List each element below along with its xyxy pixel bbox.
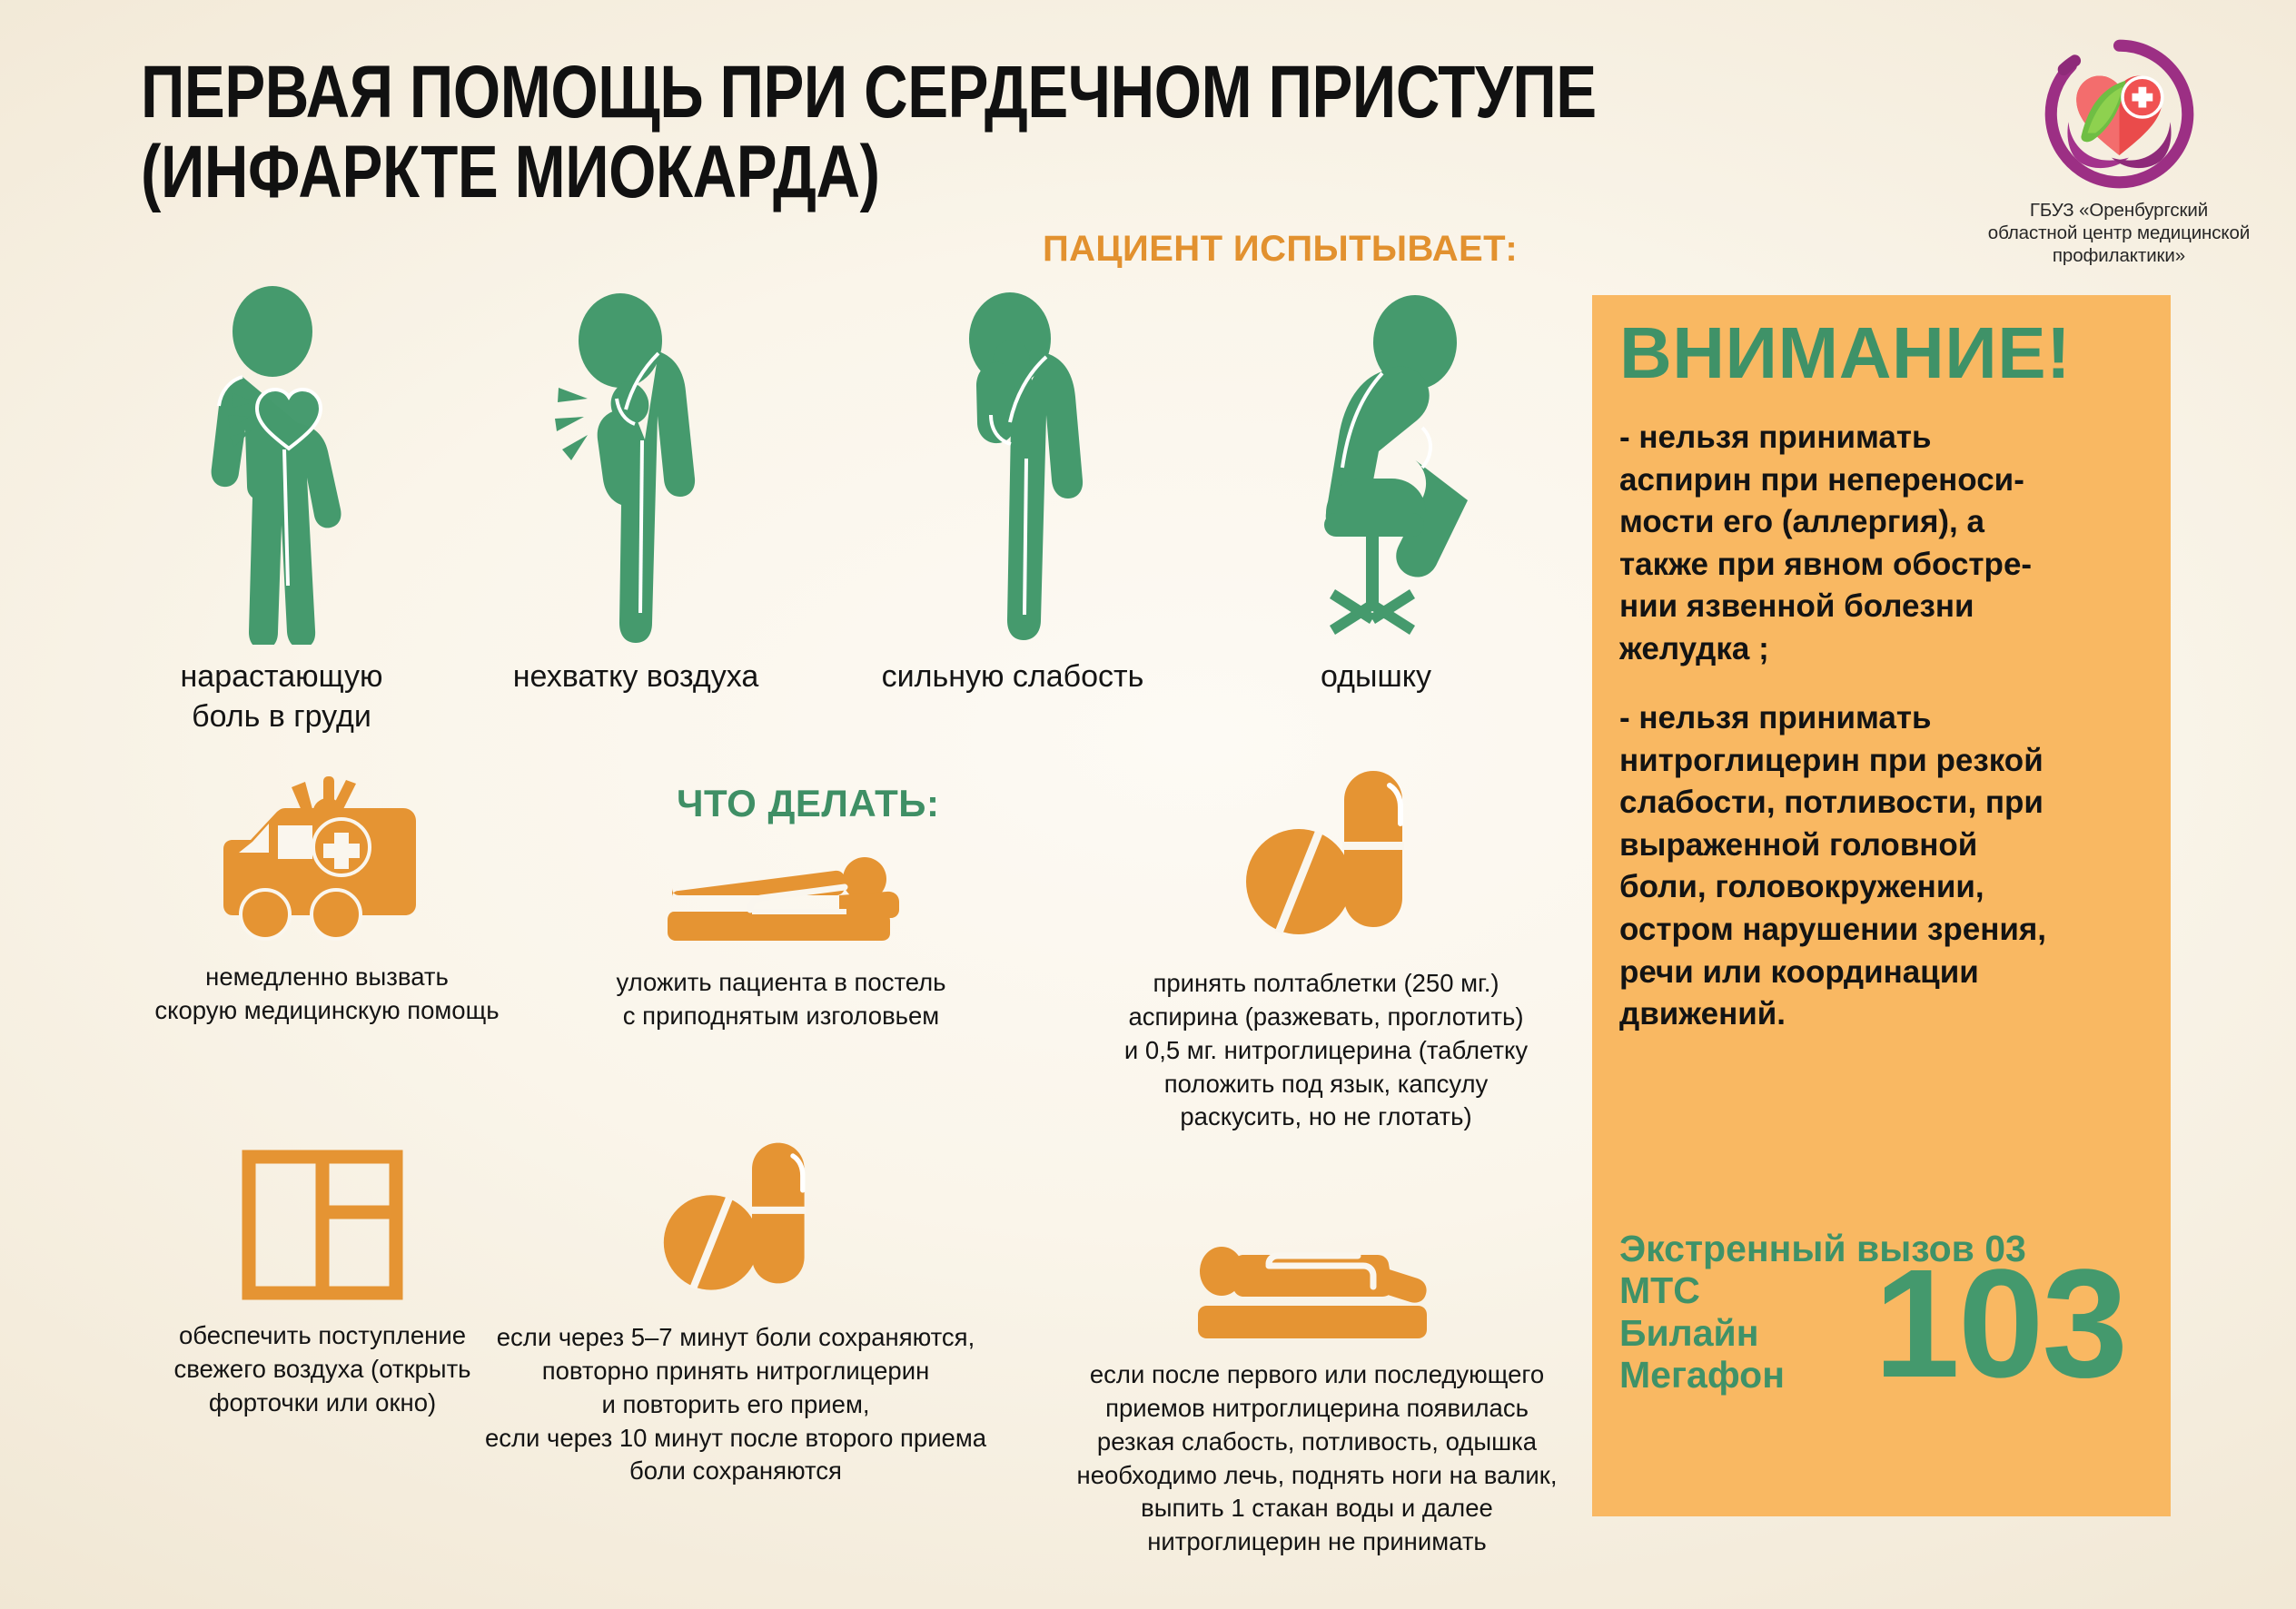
symptom-label: нехватку воздуха [454,657,817,697]
action-label: принять полтаблетки (250 мг.) аспирина (… [1054,967,1598,1134]
attention-paragraph-aspirin: - нельзя принимать аспирин при неперенос… [1619,417,2147,670]
ambulance-icon [191,776,463,944]
action-art [454,1140,1017,1303]
patient-in-bed-icon [661,855,902,944]
emergency-number: 103 [1874,1253,2126,1395]
symptom-art [817,281,1208,645]
action-label: уложить пациента в постель с приподнятым… [527,966,1035,1033]
poster-root: ПЕРВАЯ ПОМОЩЬ ПРИ СЕРДЕЧНОМ ПРИСТУПЕ (ИН… [0,0,2296,1609]
page-title: ПЕРВАЯ ПОМОЩЬ ПРИ СЕРДЕЧНОМ ПРИСТУПЕ (ИН… [141,53,1630,212]
action-item-lie-down: если после первого или последующего прие… [1026,1244,1608,1559]
action-art [73,776,581,944]
symptom-art [454,281,817,645]
symptoms-heading: ПАЦИЕНТ ИСПЫТЫВАЕТ: [1043,229,1518,270]
symptom-label: нарастающую боль в груди [100,657,463,736]
person-lying-icon [1198,1244,1436,1342]
action-art [1054,767,1598,949]
person-sitting-dyspnea-icon [1262,286,1489,645]
action-item-bed: уложить пациента в постель с приподнятым… [527,854,1035,1033]
symptom-art [100,281,463,645]
attention-title: ВНИМАНИЕ! [1619,317,2147,390]
symptoms-row: нарастающую боль в груди [100,281,1571,735]
symptom-item: нарастающую боль в груди [100,281,463,736]
person-short-of-breath-icon [522,286,749,645]
page-title-line-1: ПЕРВАЯ ПОМОЩЬ ПРИ СЕРДЕЧНОМ ПРИСТУПЕ [141,53,1630,133]
symptom-label: сильную слабость [817,657,1208,697]
window-icon [241,1149,404,1301]
symptom-art [1194,281,1558,645]
person-chest-pain-icon [177,286,386,645]
page-title-line-2: (ИНФАРКТЕ МИОКАРДА) [141,133,1630,212]
logo-heart-leaf-icon [2040,35,2199,193]
action-label: немедленно вызвать скорую медицинскую по… [73,961,581,1028]
attention-panel: ВНИМАНИЕ! - нельзя принимать аспирин при… [1592,295,2171,1516]
emergency-call-block: Экстренный вызов 03 МТС Билайн Мегафон 1… [1619,1228,2146,1436]
actions-heading: ЧТО ДЕЛАТЬ: [677,782,939,825]
pills-icon [1235,767,1417,949]
person-weakness-icon [908,286,1117,645]
action-item-ambulance: немедленно вызвать скорую медицинскую по… [73,776,581,1028]
symptom-label: одышку [1194,657,1558,697]
organization-logo: ГБУЗ «Оренбургский областной центр медиц… [1983,35,2255,267]
action-art [527,854,1035,944]
action-item-pills-first: принять полтаблетки (250 мг.) аспирина (… [1054,767,1598,1134]
attention-paragraph-nitroglycerin: - нельзя принимать нитроглицерин при рез… [1619,697,2147,1035]
symptom-item: нехватку воздуха [454,281,817,697]
logo-caption: ГБУЗ «Оренбургский областной центр медиц… [1983,199,2255,267]
action-label: если через 5–7 минут боли сохраняются, п… [454,1321,1017,1488]
symptom-item: сильную слабость [817,281,1208,697]
action-label: если после первого или последующего прие… [1026,1358,1608,1559]
action-item-pills-repeat: если через 5–7 минут боли сохраняются, п… [454,1140,1017,1488]
symptom-item: одышку [1194,281,1558,697]
pills-icon [654,1140,817,1303]
action-art [1026,1244,1608,1342]
